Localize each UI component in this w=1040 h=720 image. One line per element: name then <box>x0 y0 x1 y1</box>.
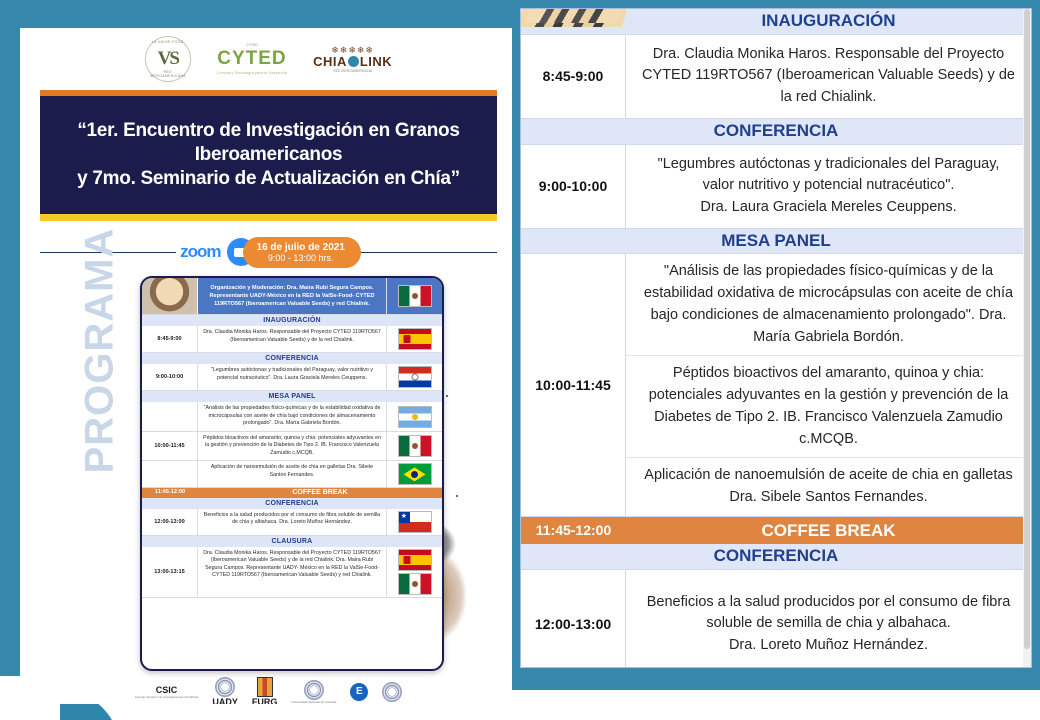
row-time: 8:45-9:00 <box>521 35 626 118</box>
panel-talk-3: Aplicación de nanoemulsión de aceite de … <box>626 458 1031 516</box>
row-time: 12:00-13:00 <box>521 570 626 668</box>
coffee-break-time: 11:45-12:00 <box>521 517 626 544</box>
chialink-seeds-icon: ❄❄❄❄❄ <box>313 46 392 54</box>
mini-row-0900: 9:00-10:00 "Legumbres autóctonas y tradi… <box>142 364 442 391</box>
flag-mexico-icon <box>398 573 432 595</box>
vertical-scrollbar[interactable] <box>1023 9 1031 667</box>
panel-talk-1: "Análisis de las propiedades físico-quím… <box>626 254 1031 356</box>
teal-frame-left <box>0 0 20 676</box>
mini-time: 10:00-11:45 <box>142 432 198 461</box>
mini-text: Aplicación de nanoemulsión de aceite de … <box>198 461 386 487</box>
row-time: 9:00-10:00 <box>521 145 626 228</box>
section-header-conferencia-1: CONFERENCIA <box>521 119 1031 145</box>
mini-coffee-label: COFFEE BREAK <box>198 488 442 497</box>
mini-text: Dra. Claudia Monika Haros. Responsable d… <box>198 547 386 597</box>
scrollbar-thumb[interactable] <box>1024 9 1030 649</box>
zoom-wordmark: zoom <box>180 242 220 262</box>
flag-argentina-icon <box>398 406 432 428</box>
mini-time: 12:00-13:00 <box>142 509 198 535</box>
flag-cell <box>386 509 442 535</box>
poster-title: “1er. Encuentro de Investigación en Gran… <box>54 119 483 192</box>
furg-logo: FURG <box>252 677 278 704</box>
poster-logo-row: LA VALSE-FOOD VS RED IBEROAMERICANA CYTE… <box>40 28 497 90</box>
university-seal-2: E <box>350 683 368 701</box>
uady-logo: UADY <box>212 677 238 704</box>
cyted-wordmark: CYTED <box>217 48 287 70</box>
e-monogram-icon: E <box>350 683 368 701</box>
poster-title-line-1: “1er. Encuentro de Investigación en Gran… <box>77 120 459 165</box>
date-time-pill: 16 de julio de 2021 9:00 - 13:00 hrs. <box>243 237 361 268</box>
cyted-top-label: CYTED <box>217 43 287 47</box>
row-text: Dra. Claudia Monika Haros. Responsable d… <box>626 35 1031 118</box>
avatar <box>142 278 198 314</box>
screenshot-root: LA VALSE-FOOD VS RED IBEROAMERICANA CYTE… <box>0 0 1040 720</box>
event-time-range: 9:00 - 13:00 hrs. <box>257 253 345 263</box>
mini-row-1000-c: Aplicación de nanoemulsión de aceite de … <box>142 461 442 488</box>
mini-section-inauguracion: INAUGURACIÓN <box>142 315 442 326</box>
poster-program-card: Organización y Moderación: Dra. Maira Ru… <box>140 276 444 671</box>
flag-cell <box>386 547 442 597</box>
seal-icon <box>382 682 402 702</box>
mini-section-clausura: CLAUSURA <box>142 536 442 547</box>
flag-chile-icon <box>398 511 432 533</box>
mini-time: 8:45-9:00 <box>142 326 198 352</box>
coffee-break-row: 11:45-12:00 COFFEE BREAK <box>521 517 1031 544</box>
poster-title-band: “1er. Encuentro de Investigación en Gran… <box>40 96 497 214</box>
flag-cell <box>386 326 442 352</box>
flag-cell <box>386 278 442 314</box>
organizer-row: Organización y Moderación: Dra. Maira Ru… <box>142 278 442 315</box>
mini-time: 9:00-10:00 <box>142 364 198 390</box>
globe-icon <box>348 56 359 67</box>
row-subblocks: "Análisis de las propiedades físico-quím… <box>626 254 1031 516</box>
event-poster: LA VALSE-FOOD VS RED IBEROAMERICANA CYTE… <box>20 28 497 704</box>
university-seal-1: Universidad Nacional de Córdoba <box>291 680 336 704</box>
row-text: Beneficios a la salud producidos por el … <box>626 570 1031 668</box>
cyted-subtitle: Ciencia y Tecnología para el Desarrollo <box>217 71 287 75</box>
flag-mexico-icon <box>398 285 432 307</box>
valse-ring-bottom: RED IBEROAMERICANA <box>146 70 190 78</box>
chialink-logo: ❄❄❄❄❄ CHIALINK RED IBEROAMERICANA <box>313 46 392 73</box>
valse-food-logo: LA VALSE-FOOD VS RED IBEROAMERICANA <box>145 36 191 82</box>
coffee-break-label: COFFEE BREAK <box>626 517 1031 544</box>
chialink-wordmark: CHIALINK <box>313 54 392 69</box>
mini-row-1300: 13:00-13:15 Dra. Claudia Monika Haros. R… <box>142 547 442 598</box>
mini-section-conferencia-1: CONFERENCIA <box>142 353 442 364</box>
flag-brazil-icon <box>398 463 432 485</box>
chialink-subtitle: RED IBEROAMERICANA <box>313 69 392 73</box>
sponsor-logo-row: CSIC Consejo Superior de Investigaciones… <box>40 673 497 704</box>
zoom-overlay-panel: INAUGURACIÓN 8:45-9:00 Dra. Claudia Moni… <box>512 0 1040 690</box>
flag-mexico-icon <box>398 435 432 457</box>
flag-cell <box>386 364 442 390</box>
flag-spain-icon <box>398 549 432 571</box>
mini-row-1000-b: 10:00-11:45 Péptidos bioactivos del amar… <box>142 432 442 462</box>
mini-row-0845: 8:45-9:00 Dra. Claudia Monika Haros. Res… <box>142 326 442 353</box>
cyted-logo: CYTED CYTED Ciencia y Tecnología para el… <box>217 43 287 75</box>
event-date: 16 de julio de 2021 <box>257 242 345 253</box>
mini-coffee-time: 11:45-12:00 <box>142 488 198 497</box>
mini-time <box>142 461 198 487</box>
row-text: "Legumbres autóctonas y tradicionales de… <box>626 145 1031 228</box>
university-seal-3 <box>382 682 402 702</box>
valse-monogram: VS <box>158 48 178 70</box>
table-row: 9:00-10:00 "Legumbres autóctonas y tradi… <box>521 145 1031 229</box>
mini-section-mesa-panel: MESA PANEL <box>142 391 442 402</box>
program-table: INAUGURACIÓN 8:45-9:00 Dra. Claudia Moni… <box>520 8 1032 668</box>
chia-seed-clip <box>521 9 626 34</box>
mini-row-1200: 12:00-13:00 Beneficios a la salud produc… <box>142 509 442 536</box>
mini-text: "Análisis de las propiedades físico-quím… <box>198 402 386 431</box>
mini-row-1000-a: "Análisis de las propiedades físico-quím… <box>142 402 442 432</box>
mini-text: "Legumbres autóctonas y tradicionales de… <box>198 364 386 390</box>
table-row: 12:00-13:00 Beneficios a la salud produc… <box>521 570 1031 668</box>
poster-title-line-2: y 7mo. Seminario de Actualización en Chí… <box>77 168 460 189</box>
table-row: 8:45-9:00 Dra. Claudia Monika Haros. Res… <box>521 35 1031 119</box>
mini-section-conferencia-2: CONFERENCIA <box>142 498 442 509</box>
mini-text: Péptidos bioactivos del amaranto, quinoa… <box>198 432 386 461</box>
section-header-mesa-panel: MESA PANEL <box>521 229 1031 255</box>
valse-ring-top: LA VALSE-FOOD <box>146 40 190 44</box>
section-header-conferencia-2: CONFERENCIA <box>521 544 1031 570</box>
mini-time <box>142 402 198 431</box>
programa-watermark: PROGRAMA <box>78 221 123 481</box>
flag-cell <box>386 432 442 461</box>
mini-coffee-break-row: 11:45-12:00 COFFEE BREAK <box>142 488 442 497</box>
flag-cell <box>386 402 442 431</box>
organizer-note: Organización y Moderación: Dra. Maira Ru… <box>198 278 386 314</box>
panel-talk-2: Péptidos bioactivos del amaranto, quinoa… <box>626 356 1031 458</box>
flag-spain-icon <box>398 328 432 350</box>
furg-book-icon <box>257 677 273 697</box>
rule-right <box>361 252 497 253</box>
row-time: 10:00-11:45 <box>521 254 626 516</box>
seal-icon <box>304 680 324 700</box>
flag-paraguay-icon <box>398 366 432 388</box>
mini-text: Dra. Claudia Monika Haros. Responsable d… <box>198 326 386 352</box>
uady-seal-icon <box>215 677 235 697</box>
mini-time: 13:00-13:15 <box>142 547 198 597</box>
table-row: 10:00-11:45 "Análisis de las propiedades… <box>521 254 1031 517</box>
section-header-inauguracion: INAUGURACIÓN <box>521 9 1031 35</box>
csic-logo: CSIC Consejo Superior de Investigaciones… <box>135 685 199 699</box>
mini-text: Beneficios a la salud producidos por el … <box>198 509 386 535</box>
flag-cell <box>386 461 442 487</box>
